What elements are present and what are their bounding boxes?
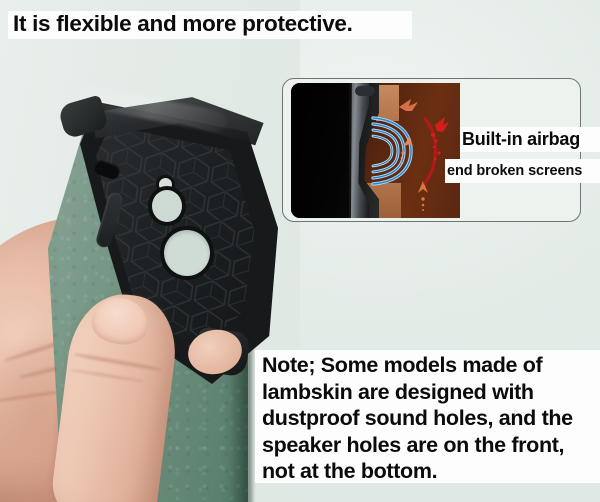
phone-camera-notch xyxy=(355,86,375,96)
airbag-cross-section-image xyxy=(291,83,460,218)
camera-cutout-large xyxy=(164,230,210,276)
impact-force-arrows xyxy=(391,89,455,215)
airbag-text-area: Built-in airbag end broken screens xyxy=(460,83,600,218)
airbag-subtitle: end broken screens xyxy=(445,159,600,183)
product-feature-graphic: It is flexible and more protective. xyxy=(0,0,600,502)
airbag-title: Built-in airbag xyxy=(460,127,600,152)
page-title: It is flexible and more protective. xyxy=(13,9,433,39)
camera-cutout-medium xyxy=(152,190,182,222)
note-text: Note; Some models made of lambskin are d… xyxy=(262,352,600,485)
product-photo xyxy=(0,42,280,502)
